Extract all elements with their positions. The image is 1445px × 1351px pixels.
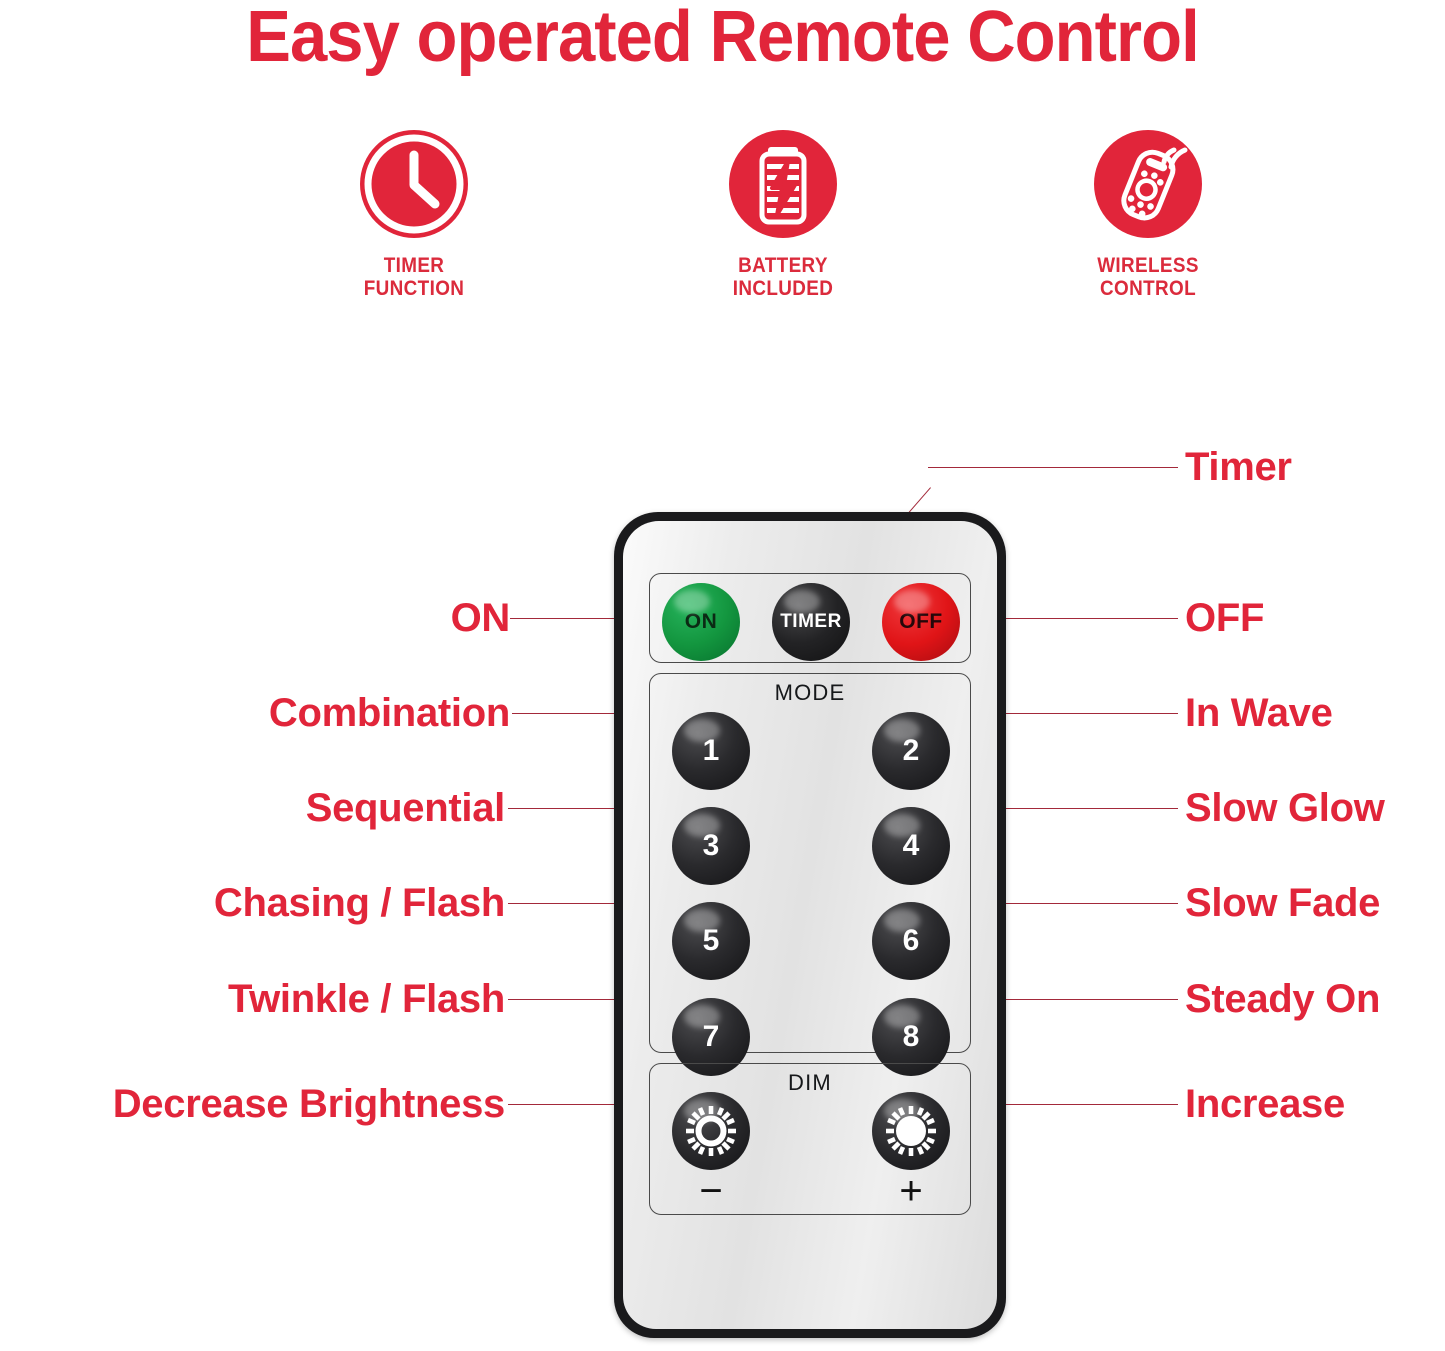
dim-decrease-button[interactable] [672,1092,750,1170]
sun-filled-icon [884,1104,938,1158]
callout-increase: Increase [1185,1082,1345,1126]
feature-battery-included: BATTERY INCLUDED [663,128,903,300]
feature-label: BATTERY INCLUDED [675,254,891,300]
mode-5-button[interactable]: 5 [672,902,750,980]
callout-on: ON [110,596,510,640]
battery-icon [727,128,839,240]
infographic-canvas: Easy operated Remote Control TIMER FUNCT… [0,0,1445,1351]
callout-chasing: Chasing / Flash [105,881,505,925]
power-panel: ON TIMER OFF [649,573,971,663]
dim-decrease-sign: − [672,1176,750,1206]
callout-sequential: Sequential [105,786,505,830]
sun-outline-icon [684,1104,738,1158]
callout-twinkle: Twinkle / Flash [105,977,505,1021]
dim-increase-sign: + [872,1176,950,1206]
remote-faceplate: ON TIMER OFF MODE 1 2 3 4 5 6 7 8 DIM [623,521,997,1329]
dim-panel: DIM [649,1063,971,1215]
feature-label: WIRELESS CONTROL [1040,254,1256,300]
remote-control-device: ON TIMER OFF MODE 1 2 3 4 5 6 7 8 DIM [614,512,1006,1338]
mode-3-button[interactable]: 3 [672,807,750,885]
clock-icon [358,128,470,240]
timer-button[interactable]: TIMER [772,583,850,661]
mode-2-button[interactable]: 2 [872,712,950,790]
mode-panel: MODE 1 2 3 4 5 6 7 8 [649,673,971,1053]
callout-inwave: In Wave [1185,691,1333,735]
mode-4-button[interactable]: 4 [872,807,950,885]
mode-section-label: MODE [650,680,970,706]
feature-label: TIMER FUNCTION [306,254,522,300]
leader-timer-horizontal [928,467,1178,468]
off-button[interactable]: OFF [882,583,960,661]
callout-slowglow: Slow Glow [1185,786,1385,830]
dim-section-label: DIM [650,1070,970,1096]
callout-combination: Combination [110,691,510,735]
dim-increase-button[interactable] [872,1092,950,1170]
callout-timer: Timer [1185,445,1292,489]
callout-decrease: Decrease Brightness [5,1082,505,1126]
page-title: Easy operated Remote Control [51,0,1395,76]
callout-off: OFF [1185,596,1264,640]
on-button[interactable]: ON [662,583,740,661]
mode-1-button[interactable]: 1 [672,712,750,790]
callout-slowfade: Slow Fade [1185,881,1380,925]
feature-wireless-control: WIRELESS CONTROL [1028,128,1268,300]
feature-badge-row: TIMER FUNCTION BATTERY INCLUDED [0,128,1445,318]
mode-6-button[interactable]: 6 [872,902,950,980]
remote-icon [1092,128,1204,240]
feature-timer-function: TIMER FUNCTION [294,128,534,300]
callout-steadyon: Steady On [1185,977,1380,1021]
